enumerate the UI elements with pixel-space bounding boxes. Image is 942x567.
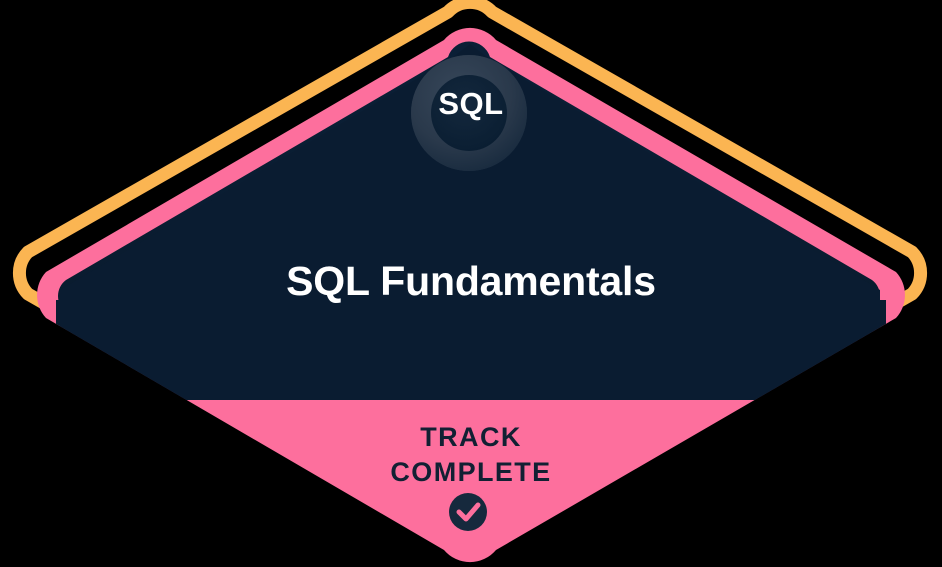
badge-artwork: [0, 0, 942, 567]
track-completion-badge: SQL SQL Fundamentals TRACK COMPLETE: [0, 0, 942, 567]
sql-ring-icon: [411, 55, 527, 171]
check-circle-icon: [449, 493, 487, 531]
